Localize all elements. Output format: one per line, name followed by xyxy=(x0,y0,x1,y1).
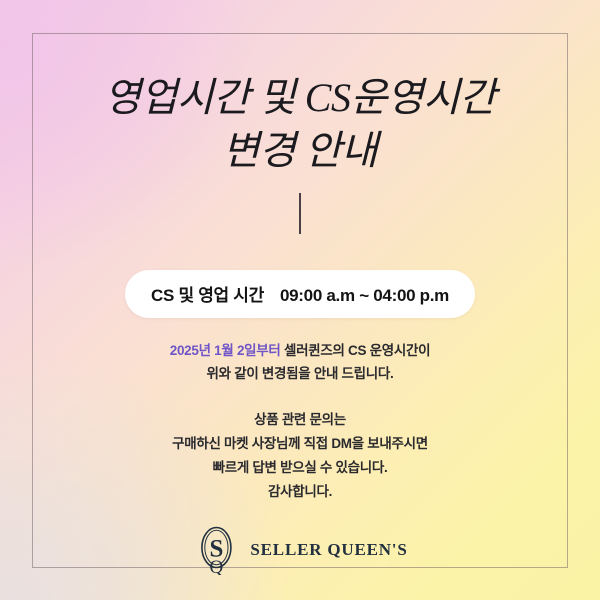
message-line-1: 상품 관련 문의는 xyxy=(0,408,600,432)
notice-line-2: 위와 같이 변경됨을 안내 드립니다. xyxy=(0,362,600,385)
brand-wordmark: SELLER QUEEN'S xyxy=(250,540,407,560)
hours-badge: CS 및 영업 시간 09:00 a.m ~ 04:00 p.m xyxy=(125,270,475,318)
brand-logo: S Q SELLER QUEEN'S xyxy=(192,525,407,575)
vertical-divider xyxy=(299,193,301,234)
hours-badge-value: 09:00 a.m ~ 04:00 p.m xyxy=(280,286,449,306)
seller-queens-monogram-icon: S Q xyxy=(192,525,240,575)
notice-block: 2025년 1월 2일부터 셀러퀸즈의 CS 운영시간이 위와 같이 변경됨을 … xyxy=(0,339,600,385)
title-line-2: 변경 안내 xyxy=(0,125,600,178)
notice-date-highlight: 2025년 1월 2일부터 xyxy=(170,343,281,358)
message-line-3: 빠르게 답변 받으실 수 있습니다. xyxy=(0,456,600,480)
hours-badge-label: CS 및 영업 시간 xyxy=(151,281,264,306)
svg-text:Q: Q xyxy=(210,557,224,575)
page-title: 영업시간 및 CS운영시간 변경 안내 xyxy=(0,72,600,178)
poster-content: 영업시간 및 CS운영시간 변경 안내 CS 및 영업 시간 09:00 a.m… xyxy=(0,0,600,600)
poster-canvas: 영업시간 및 CS운영시간 변경 안내 CS 및 영업 시간 09:00 a.m… xyxy=(0,0,600,600)
message-line-2: 구매하신 마켓 사장님께 직접 DM을 보내주시면 xyxy=(0,432,600,456)
notice-line-1: 2025년 1월 2일부터 셀러퀸즈의 CS 운영시간이 xyxy=(0,339,600,362)
message-line-4: 감사합니다. xyxy=(0,480,600,504)
notice-line-1-rest: 셀러퀸즈의 CS 운영시간이 xyxy=(281,343,431,358)
title-line-1: 영업시간 및 CS운영시간 xyxy=(104,75,495,120)
message-block: 상품 관련 문의는 구매하신 마켓 사장님께 직접 DM을 보내주시면 빠르게 … xyxy=(0,408,600,504)
